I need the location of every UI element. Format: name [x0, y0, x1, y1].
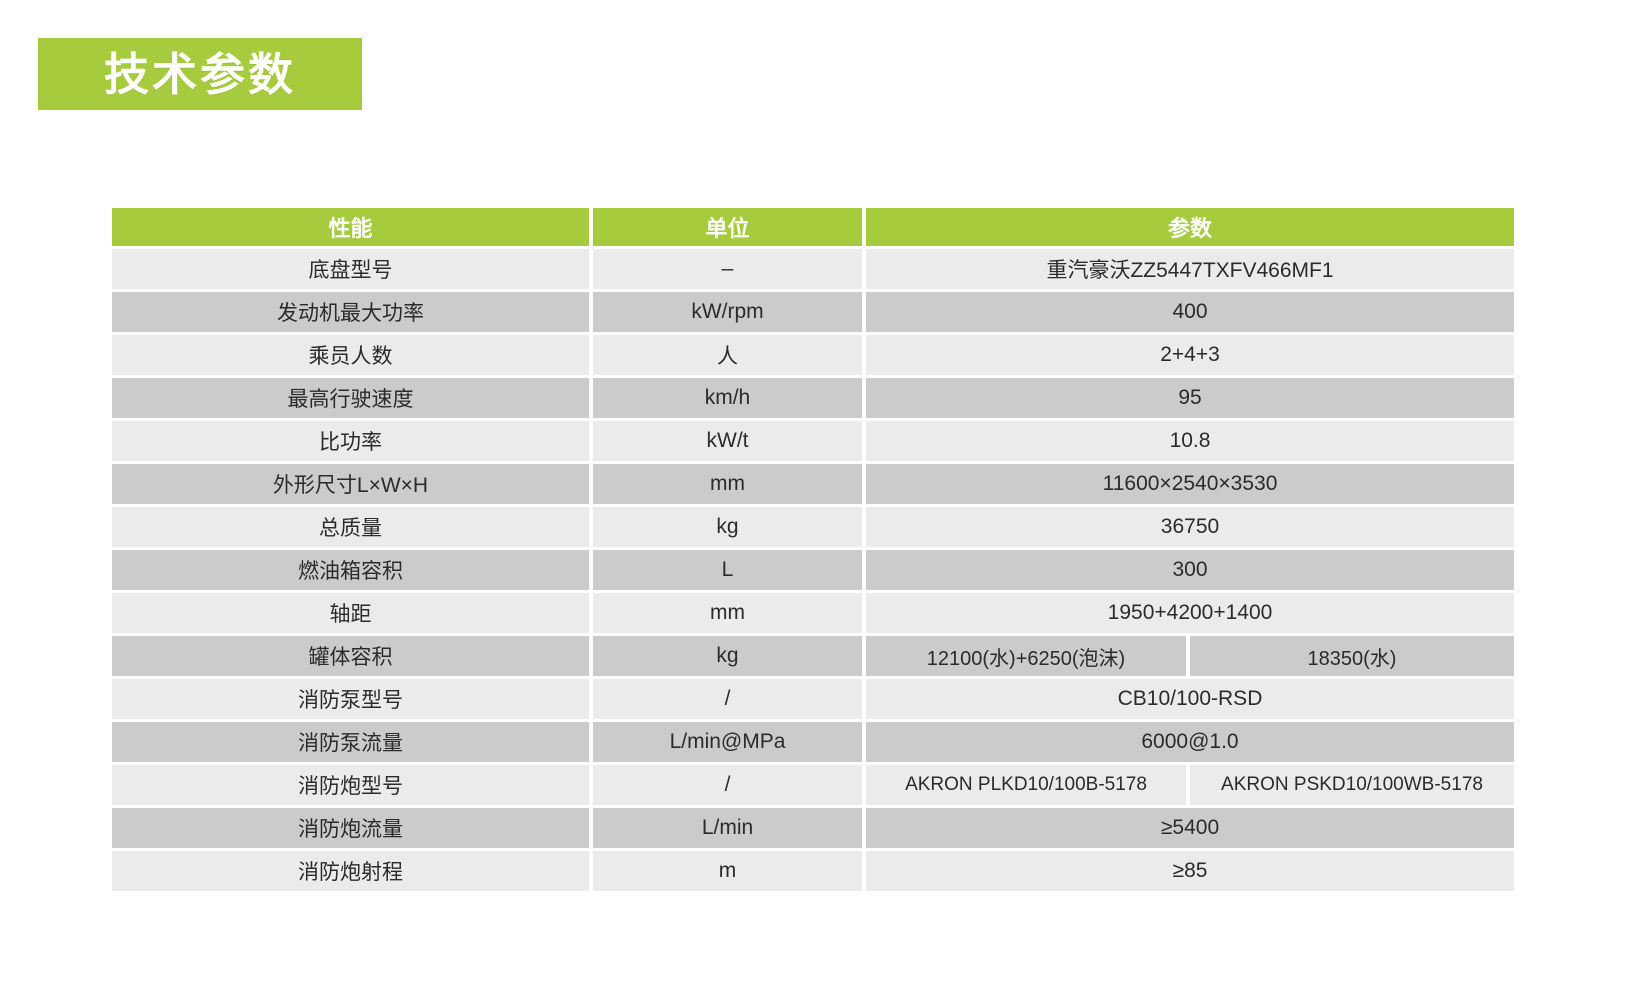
- cell-parameter-split: AKRON PLKD10/100B-5178 AKRON PSKD10/100W…: [866, 765, 1514, 808]
- cell-parameter: CB10/100-RSD: [866, 679, 1514, 722]
- column-header-performance: 性能: [112, 208, 593, 249]
- cell-parameter-left: AKRON PLKD10/100B-5178: [866, 765, 1190, 805]
- cell-performance: 消防炮射程: [112, 851, 593, 894]
- cell-unit: mm: [593, 464, 866, 507]
- table-header: 性能 单位 参数: [112, 208, 1514, 249]
- cell-unit: –: [593, 249, 866, 292]
- cell-parameter: 10.8: [866, 421, 1514, 464]
- cell-parameter: ≥5400: [866, 808, 1514, 851]
- cell-parameter-split: 12100(水)+6250(泡沫) 18350(水): [866, 636, 1514, 679]
- table-row: 消防泵流量 L/min@MPa 6000@1.0: [112, 722, 1514, 765]
- cell-unit: kg: [593, 636, 866, 679]
- cell-performance: 消防炮流量: [112, 808, 593, 851]
- column-header-unit: 单位: [593, 208, 866, 249]
- table-body: 底盘型号 – 重汽豪沃ZZ5447TXFV466MF1 发动机最大功率 kW/r…: [112, 249, 1514, 894]
- cell-unit: L/min: [593, 808, 866, 851]
- table-row: 消防炮射程 m ≥85: [112, 851, 1514, 894]
- cell-performance: 燃油箱容积: [112, 550, 593, 593]
- cell-parameter-left: 12100(水)+6250(泡沫): [866, 636, 1190, 676]
- cell-parameter: 36750: [866, 507, 1514, 550]
- cell-performance: 发动机最大功率: [112, 292, 593, 335]
- cell-unit: L/min@MPa: [593, 722, 866, 765]
- cell-performance: 轴距: [112, 593, 593, 636]
- table-row: 最高行驶速度 km/h 95: [112, 378, 1514, 421]
- table-row: 底盘型号 – 重汽豪沃ZZ5447TXFV466MF1: [112, 249, 1514, 292]
- cell-unit: kg: [593, 507, 866, 550]
- cell-parameter: 300: [866, 550, 1514, 593]
- table-row: 总质量 kg 36750: [112, 507, 1514, 550]
- table-row: 比功率 kW/t 10.8: [112, 421, 1514, 464]
- cell-parameter: 重汽豪沃ZZ5447TXFV466MF1: [866, 249, 1514, 292]
- cell-performance: 消防泵型号: [112, 679, 593, 722]
- cell-parameter-right: 18350(水): [1190, 636, 1514, 676]
- table-row: 消防炮流量 L/min ≥5400: [112, 808, 1514, 851]
- column-header-parameter: 参数: [866, 208, 1514, 249]
- table-row: 发动机最大功率 kW/rpm 400: [112, 292, 1514, 335]
- cell-parameter: 6000@1.0: [866, 722, 1514, 765]
- spec-sheet-page: 技术参数 性能 单位 参数 底盘型号 – 重汽豪沃ZZ5447TXFV466MF…: [0, 0, 1625, 1000]
- cell-performance: 最高行驶速度: [112, 378, 593, 421]
- cell-parameter: 400: [866, 292, 1514, 335]
- table-row: 消防泵型号 / CB10/100-RSD: [112, 679, 1514, 722]
- cell-performance: 外形尺寸L×W×H: [112, 464, 593, 507]
- cell-unit: L: [593, 550, 866, 593]
- cell-unit: m: [593, 851, 866, 894]
- cell-unit: km/h: [593, 378, 866, 421]
- cell-parameter: 95: [866, 378, 1514, 421]
- table-row: 燃油箱容积 L 300: [112, 550, 1514, 593]
- table-row: 罐体容积 kg 12100(水)+6250(泡沫) 18350(水): [112, 636, 1514, 679]
- page-title: 技术参数: [104, 52, 296, 97]
- cell-parameter: 2+4+3: [866, 335, 1514, 378]
- cell-parameter: 11600×2540×3530: [866, 464, 1514, 507]
- table-row: 乘员人数 人 2+4+3: [112, 335, 1514, 378]
- cell-performance: 比功率: [112, 421, 593, 464]
- cell-parameter-right: AKRON PSKD10/100WB-5178: [1190, 765, 1514, 805]
- cell-parameter: ≥85: [866, 851, 1514, 894]
- cell-unit: /: [593, 765, 866, 808]
- cell-performance: 罐体容积: [112, 636, 593, 679]
- page-title-banner: 技术参数: [38, 38, 362, 110]
- cell-parameter: 1950+4200+1400: [866, 593, 1514, 636]
- technical-parameters-table: 性能 单位 参数 底盘型号 – 重汽豪沃ZZ5447TXFV466MF1 发动机…: [112, 208, 1514, 894]
- table-row: 轴距 mm 1950+4200+1400: [112, 593, 1514, 636]
- cell-performance: 消防炮型号: [112, 765, 593, 808]
- cell-unit: kW/rpm: [593, 292, 866, 335]
- cell-performance: 底盘型号: [112, 249, 593, 292]
- cell-unit: 人: [593, 335, 866, 378]
- cell-performance: 乘员人数: [112, 335, 593, 378]
- cell-performance: 消防泵流量: [112, 722, 593, 765]
- table-row: 消防炮型号 / AKRON PLKD10/100B-5178 AKRON PSK…: [112, 765, 1514, 808]
- split-cell-wrapper: AKRON PLKD10/100B-5178 AKRON PSKD10/100W…: [866, 765, 1514, 805]
- cell-performance: 总质量: [112, 507, 593, 550]
- table-row: 外形尺寸L×W×H mm 11600×2540×3530: [112, 464, 1514, 507]
- cell-unit: mm: [593, 593, 866, 636]
- cell-unit: /: [593, 679, 866, 722]
- cell-unit: kW/t: [593, 421, 866, 464]
- table-header-row: 性能 单位 参数: [112, 208, 1514, 249]
- split-cell-wrapper: 12100(水)+6250(泡沫) 18350(水): [866, 636, 1514, 676]
